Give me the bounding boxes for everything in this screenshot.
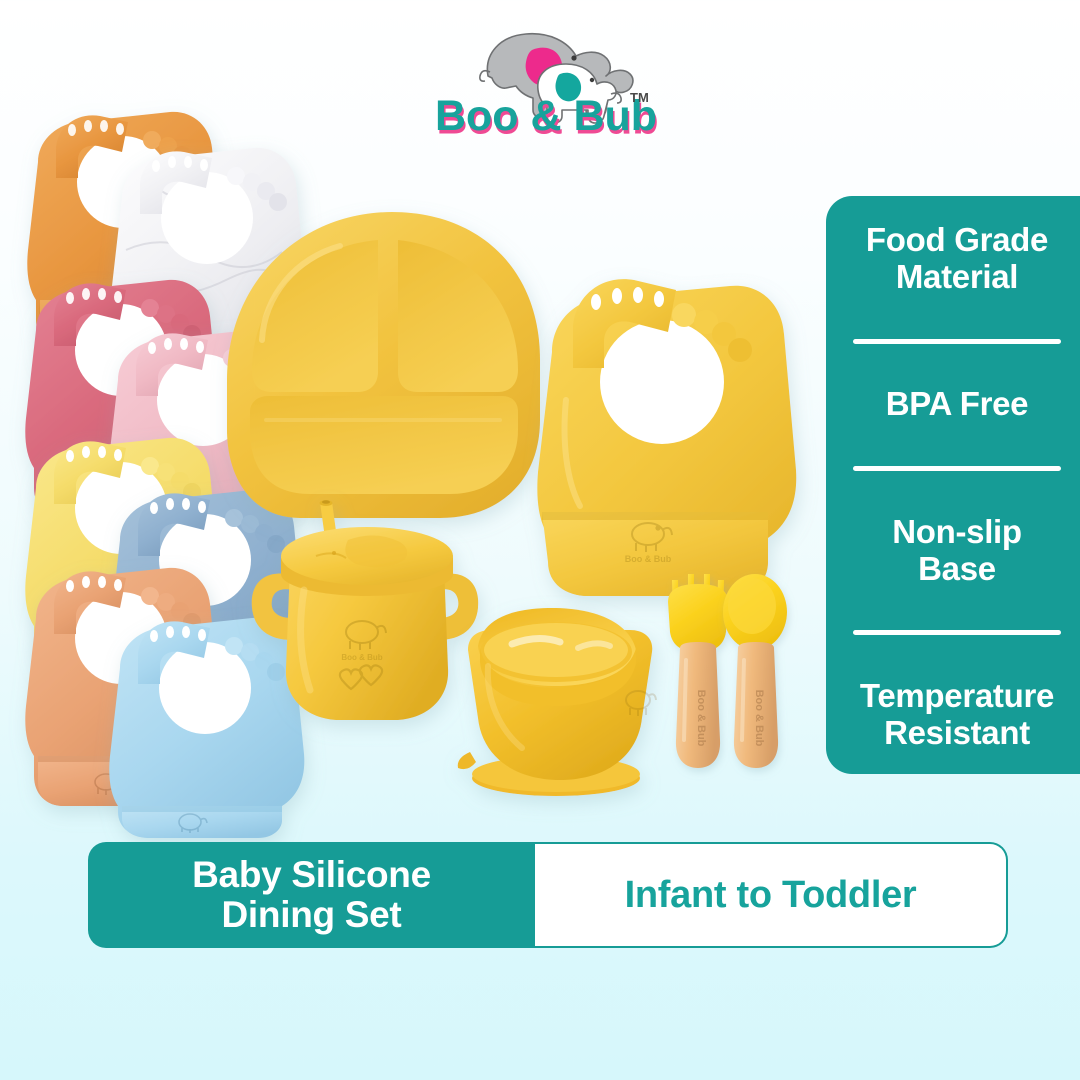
feature-food-grade-material: Food GradeMaterial	[841, 222, 1073, 296]
divided-plate	[227, 212, 540, 518]
svg-text:Boo & Bub: Boo & Bub	[341, 653, 382, 662]
bib-pink	[107, 330, 302, 568]
brand-wordmark: Boo & Bub Boo & Bub TM	[435, 90, 659, 144]
fork: Boo & Bub	[668, 574, 728, 768]
bib-yellow	[25, 438, 220, 676]
trademark-symbol: TM	[630, 90, 649, 105]
feature-temperature-resistant: TemperatureResistant	[841, 678, 1073, 752]
product-marketing-image: Boo & Bub	[0, 0, 1080, 1080]
bib-peach	[25, 568, 220, 806]
feature-bpa-free: BPA Free	[841, 386, 1073, 423]
bib-blue-gray	[109, 490, 304, 728]
suction-bowl	[458, 608, 656, 796]
feature-divider-1	[853, 339, 1061, 344]
bottom-banner: Baby SiliconeDining Set Infant to Toddle…	[88, 842, 1008, 948]
feature-divider-3	[853, 630, 1061, 635]
feature-divider-2	[853, 466, 1061, 471]
banner-age-range-text: Infant to Toddler	[625, 874, 917, 917]
brand-wordmark-text: Boo & Bub	[435, 92, 657, 140]
bib-white	[111, 148, 306, 386]
spoon: Boo & Bub	[723, 574, 787, 768]
banner-age-range: Infant to Toddler	[535, 842, 1008, 948]
svg-text:Boo & Bub: Boo & Bub	[625, 554, 672, 564]
banner-product-title: Baby SiliconeDining Set	[88, 842, 535, 948]
bib-light-blue	[109, 618, 304, 838]
svg-text:Boo & Bub: Boo & Bub	[753, 690, 765, 747]
sippy-cup: Boo & Bub	[252, 500, 479, 720]
banner-product-title-text: Baby SiliconeDining Set	[192, 855, 431, 935]
feature-non-slip-base: Non-slipBase	[841, 514, 1073, 588]
svg-text:Boo & Bub: Boo & Bub	[695, 690, 707, 747]
bib-orange	[27, 109, 237, 396]
brand-logo: Boo & Bub Boo & Bub TM	[434, 14, 664, 144]
bib-rose	[25, 280, 220, 518]
features-panel: Food GradeMaterial BPA Free Non-slipBase…	[826, 196, 1080, 774]
feeding-bib: Boo & Bub	[537, 279, 796, 596]
